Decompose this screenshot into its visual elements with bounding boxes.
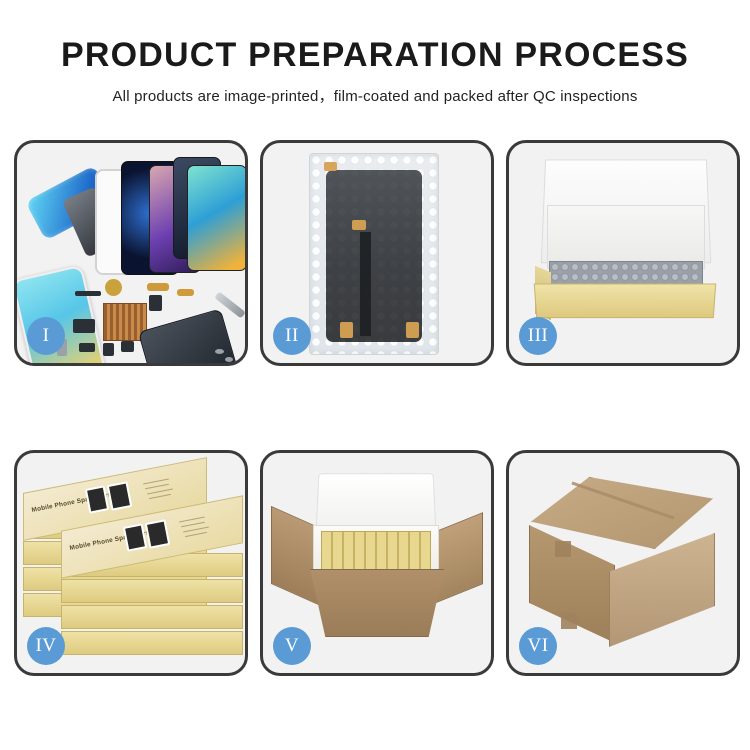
process-step-grid: I II III <box>14 140 736 676</box>
page-subtitle: All products are image-printed，film-coat… <box>0 85 750 106</box>
camera-module-part <box>73 319 95 333</box>
box-back-wall <box>547 205 705 269</box>
step-badge-1: I <box>27 317 65 355</box>
process-step-panel-3[interactable]: III <box>506 140 740 366</box>
process-step-panel-2[interactable]: II <box>260 140 494 366</box>
battery-connector-part <box>149 295 162 311</box>
tape-bottom-left <box>340 322 353 338</box>
tape-bottom-right <box>406 322 419 338</box>
step-badge-3: III <box>519 317 557 355</box>
box-front-yellow <box>534 283 717 318</box>
bubble-wrap-sleeve <box>309 153 439 355</box>
process-step-panel-5[interactable]: V <box>260 450 494 676</box>
process-step-panel-1[interactable]: I <box>14 140 248 366</box>
screw-part-b <box>225 357 233 362</box>
process-step-panel-4[interactable]: Mobile Phone Spare Parts Mobile Phone Sp… <box>14 450 248 676</box>
vibrator-part <box>121 341 134 352</box>
tape-middle <box>352 220 366 230</box>
step-badge-4: IV <box>27 627 65 665</box>
tape-top <box>324 162 337 171</box>
speaker-part <box>105 279 122 296</box>
wrapped-flex-cable <box>360 232 371 336</box>
phone-teal-wallpaper <box>187 165 247 271</box>
phone-back-housing <box>138 308 238 366</box>
stacked-box-7 <box>61 605 243 629</box>
page-title: PRODUCT PREPARATION PROCESS <box>0 38 750 74</box>
wrapped-screen <box>326 170 422 342</box>
flex-cable-part-b <box>177 289 194 296</box>
step-badge-6: VI <box>519 627 557 665</box>
process-step-panel-6[interactable]: VI <box>506 450 740 676</box>
connector-part-b <box>103 343 114 356</box>
carton-right-face <box>609 533 715 647</box>
carton-front-wall <box>301 569 453 637</box>
flex-cable-part-a <box>147 283 169 291</box>
stacked-box-8 <box>61 631 243 655</box>
step-badge-2: II <box>273 317 311 355</box>
carton-handle-tab-top <box>555 541 571 557</box>
earpiece-part <box>75 291 101 296</box>
carton-top-face <box>531 477 713 549</box>
connector-part-a <box>79 343 95 352</box>
step-badge-5: V <box>273 627 311 665</box>
packed-yellow-boxes <box>321 531 431 575</box>
stacked-box-6 <box>61 579 243 603</box>
carton-handle-tab-bottom <box>561 613 577 629</box>
screw-part-a <box>215 349 224 354</box>
page-header: PRODUCT PREPARATION PROCESS All products… <box>0 0 750 106</box>
